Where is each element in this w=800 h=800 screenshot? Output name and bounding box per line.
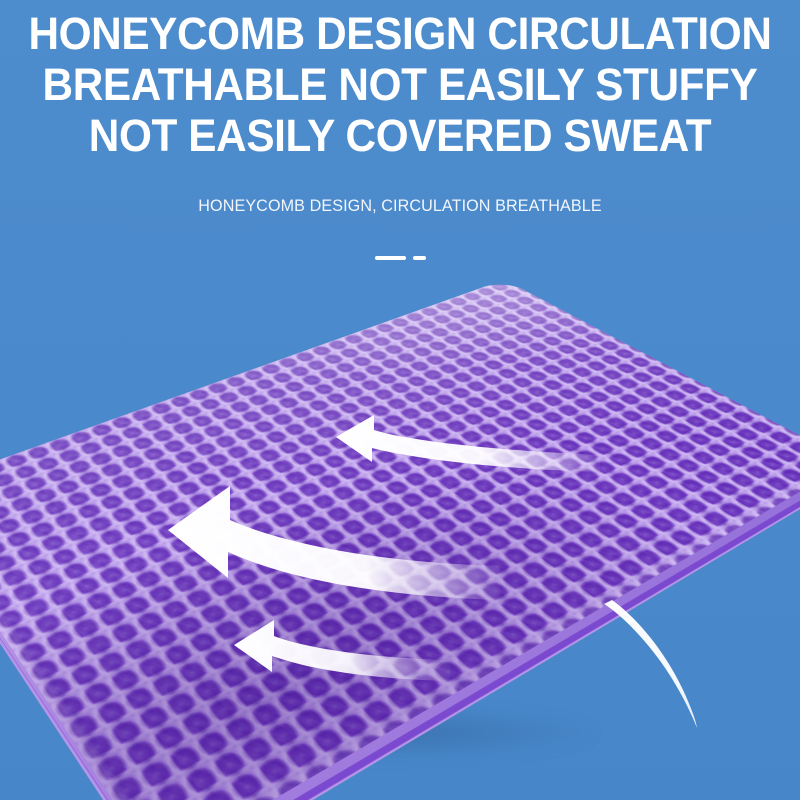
honeycomb-cell-cups: [0, 280, 800, 800]
divider-dash-short: [413, 256, 426, 260]
headline: HONEYCOMB DESIGN CIRCULATION BREATHABLE …: [0, 8, 800, 161]
headline-line-3: NOT EASILY COVERED SWEAT: [24, 110, 776, 161]
cushion-slab: [0, 280, 800, 800]
product-banner: HONEYCOMB DESIGN CIRCULATION BREATHABLE …: [0, 0, 800, 800]
headline-line-1: HONEYCOMB DESIGN CIRCULATION: [24, 8, 776, 59]
gel-cushion: [0, 228, 800, 800]
cushion-top-surface: [0, 280, 800, 800]
divider-dash-long: [375, 256, 406, 260]
divider: [0, 256, 800, 260]
subtitle: HONEYCOMB DESIGN, CIRCULATION BREATHABLE: [20, 196, 780, 216]
headline-line-2: BREATHABLE NOT EASILY STUFFY: [24, 59, 776, 110]
product-image: [0, 228, 800, 800]
